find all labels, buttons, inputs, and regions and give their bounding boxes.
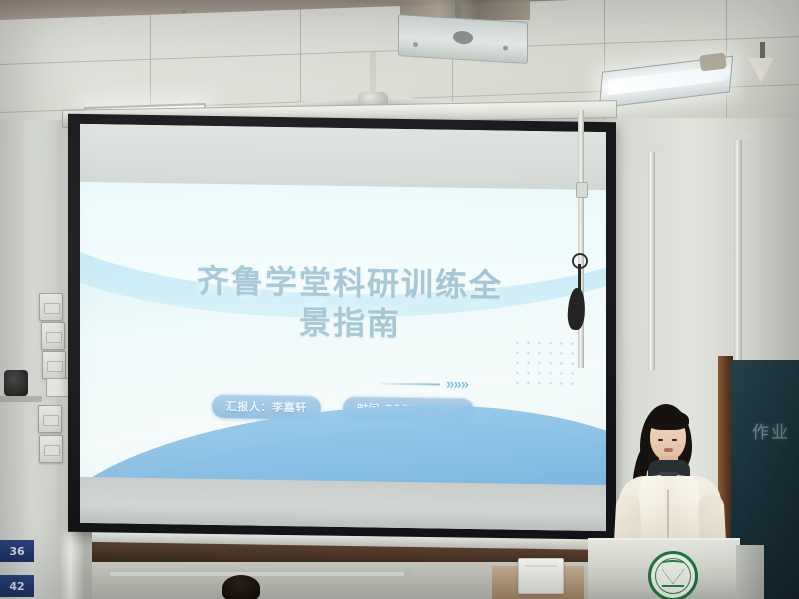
chevron-right-icon: »»» [446,376,468,393]
light-switch[interactable] [41,322,65,350]
slide-title-line-2: 景指南 [140,300,560,346]
hair-fringe [647,410,689,430]
tissue-box [518,558,564,594]
support-pole [734,138,742,368]
slide-divider-rule [380,383,440,386]
projection-screen-surface: 齐鲁学堂科研训练全 景指南 »»» 汇报人：李嘉轩 时间:2025/11/03 [80,124,606,531]
screen-bottom-band [80,477,606,531]
fan-down-rod [370,52,376,96]
seal-arc [659,560,687,571]
podium-side-panel [736,545,764,599]
wall-number-sign: 42 [0,575,34,597]
support-pole [648,150,655,370]
speaker-shelf [0,396,42,402]
cone-lamp-icon [748,58,774,82]
pole-ceiling-cap [726,132,752,140]
presentation-slide: 齐鲁学堂科研训练全 景指南 »»» 汇报人：李嘉轩 时间:2025/11/03 [80,182,606,489]
slide-title-line-1: 齐鲁学堂科研训练全 [140,261,560,307]
slide-title: 齐鲁学堂科研训练全 景指南 [140,261,560,347]
seal-base-line [662,585,684,588]
light-switch[interactable] [42,351,66,379]
light-switch[interactable] [38,405,62,433]
light-switch[interactable] [39,435,63,463]
desk-rail-knob [404,568,412,580]
light-mount-bracket [699,52,727,71]
projection-screen-frame: 齐鲁学堂科研训练全 景指南 »»» 汇报人：李嘉轩 时间:2025/11/03 [68,114,616,541]
mouth [664,448,673,452]
wall-number-sign: 36 [0,540,34,562]
audience-head [222,575,260,599]
desk-rail [110,572,410,576]
blackboard-chalk-text: 作业 [752,418,790,443]
pole-ceiling-cap [640,144,664,152]
projector-lens-icon [453,30,473,44]
projector-icon [398,14,528,64]
light-switch[interactable] [39,293,63,321]
speaker-icon [4,370,28,396]
university-seal-icon [648,551,698,599]
classroom-photo: 36 42 作业 齐鲁学堂科研训练全 景指南 »»» 汇报人：李嘉轩 [0,0,799,599]
pole-joint [576,182,588,198]
